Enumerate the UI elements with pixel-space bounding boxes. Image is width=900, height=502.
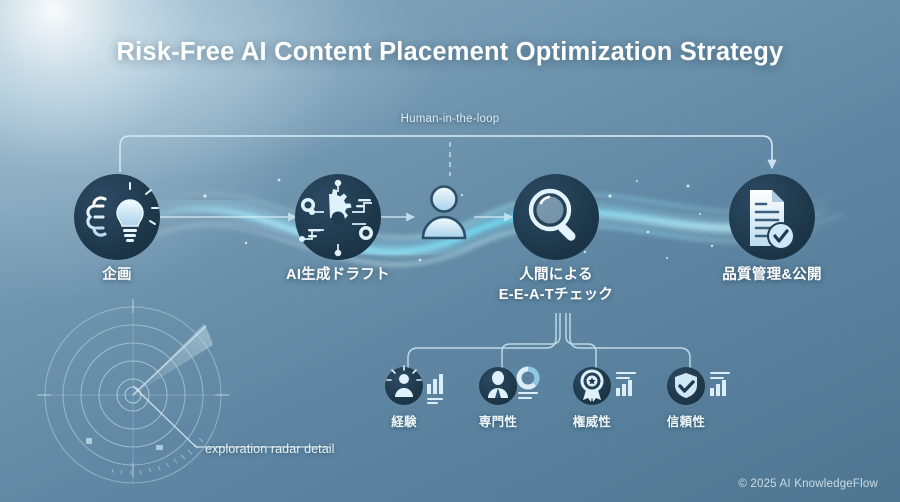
bar-chart-icon — [616, 372, 636, 396]
node-label-planning: 企画 — [57, 265, 177, 285]
infographic-canvas: Risk-Free AI Content Placement Optimizat… — [0, 0, 900, 502]
radar-sweep-icon — [37, 299, 229, 483]
pillar-label-expertise: 専門性 — [458, 411, 538, 430]
person-icon[interactable] — [423, 187, 465, 239]
node-publish[interactable] — [729, 174, 815, 260]
pillar-icon-trust[interactable] — [667, 367, 730, 405]
node-label-eeat-check-line2: E-E-A-Tチェック — [476, 285, 636, 305]
pillar-label-experience: 経験 — [364, 411, 444, 430]
node-label-eeat-check-line1: 人間による — [476, 265, 636, 285]
node-planning[interactable] — [74, 174, 160, 260]
radar-caption: exploration radar detail — [205, 442, 335, 456]
pillar-label-authority: 権威性 — [552, 411, 632, 430]
node-label-ai-draft: AI生成ドラフト — [258, 265, 418, 285]
node-label-publish: 品質管理&公開 — [692, 265, 852, 285]
pillar-label-trust: 信頼性 — [646, 411, 726, 430]
flow-nodes — [0, 0, 900, 502]
bar-chart-icon — [427, 374, 443, 404]
node-ai-draft[interactable] — [295, 174, 381, 260]
pillar-icon-expertise[interactable] — [479, 367, 538, 405]
footer-copyright: © 2025 AI KnowledgeFlow — [738, 478, 878, 490]
node-eeat-check[interactable] — [513, 174, 599, 260]
donut-chart-icon — [519, 369, 537, 387]
bar-chart-icon — [710, 372, 730, 396]
pillar-icon-experience[interactable] — [385, 366, 443, 405]
pillar-icon-authority[interactable] — [573, 367, 636, 405]
pillar-icons — [385, 366, 730, 405]
